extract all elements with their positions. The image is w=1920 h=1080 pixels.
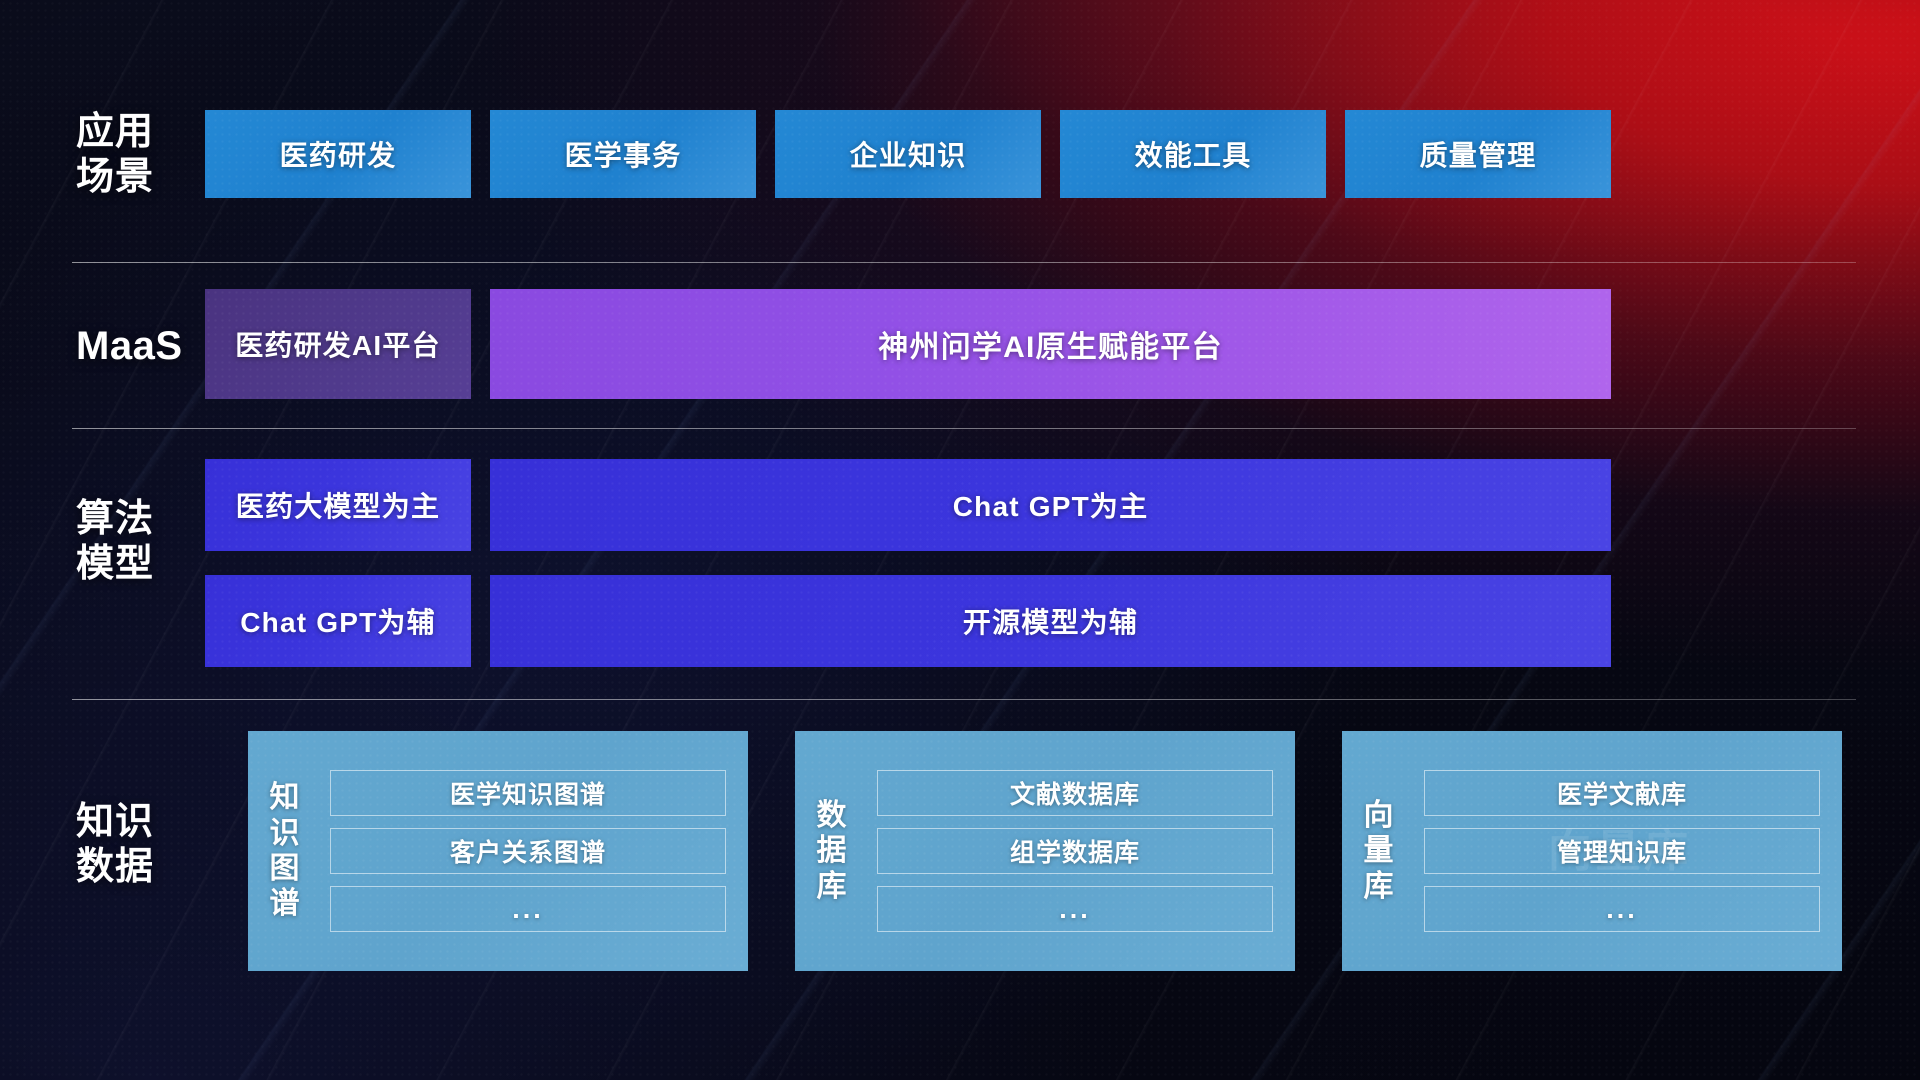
knowledge-item-customer-relation-graph[interactable]: 客户关系图谱 [330,828,726,874]
divider-after-maas [72,428,1856,429]
diagram-content: 应用 场景 医药研发 医学事务 企业知识 效能工具 质量管理 MaaS 医药研发… [0,0,1920,1080]
knowledge-card-item-list: 医学知识图谱 客户关系图谱 ... [322,756,748,946]
side-label-char-3: 图 [270,851,301,886]
side-label-char-2: 据 [817,833,848,868]
algo-box-chatgpt-primary[interactable]: Chat GPT为主 [490,459,1611,551]
maas-box-medicine-rd-ai-platform[interactable]: 医药研发AI平台 [205,289,471,399]
divider-after-application-scenarios [72,262,1856,263]
side-label-char-2: 量 [1364,833,1395,868]
maas-box-shenzhou-wenxue-platform[interactable]: 神州问学AI原生赋能平台 [490,289,1611,399]
knowledge-item-more[interactable]: ... [877,886,1273,932]
knowledge-item-literature-database[interactable]: 文献数据库 [877,770,1273,816]
knowledge-card-item-list: 医学文献库 管理知识库 ... [1416,756,1842,946]
algo-box-medicine-large-model-primary[interactable]: 医药大模型为主 [205,459,471,551]
knowledge-card-vector-store[interactable]: 向量库 向 量 库 医学文献库 管理知识库 ... [1342,731,1842,971]
side-label-char-4: 谱 [270,886,301,921]
knowledge-card-item-list: 文献数据库 组学数据库 ... [869,756,1295,946]
knowledge-item-more[interactable]: ... [1424,886,1820,932]
knowledge-card-database[interactable]: 数 据 库 文献数据库 组学数据库 ... [795,731,1295,971]
side-label-char-3: 库 [817,869,848,904]
app-box-efficiency-tools[interactable]: 效能工具 [1060,110,1326,198]
knowledge-card-side-label: 向 量 库 [1342,798,1416,904]
divider-after-algorithm-model [72,699,1856,700]
algo-box-chatgpt-secondary[interactable]: Chat GPT为辅 [205,575,471,667]
diagram-canvas: 应用 场景 医药研发 医学事务 企业知识 效能工具 质量管理 MaaS 医药研发… [0,0,1920,1080]
side-label-char-3: 库 [1364,869,1395,904]
knowledge-item-medical-knowledge-graph[interactable]: 医学知识图谱 [330,770,726,816]
knowledge-item-more[interactable]: ... [330,886,726,932]
knowledge-card-side-label: 数 据 库 [795,798,869,904]
knowledge-item-medical-literature-store[interactable]: 医学文献库 [1424,770,1820,816]
knowledge-card-knowledge-graph[interactable]: 知 识 图 谱 医学知识图谱 客户关系图谱 ... [248,731,748,971]
side-label-char-2: 识 [270,816,301,851]
row-label-knowledge-data: 知识 数据 [76,800,236,890]
side-label-char-1: 向 [1364,798,1395,833]
app-box-enterprise-knowledge[interactable]: 企业知识 [775,110,1041,198]
app-box-quality-management[interactable]: 质量管理 [1345,110,1611,198]
side-label-char-1: 知 [270,780,301,815]
knowledge-item-management-knowledge-store[interactable]: 管理知识库 [1424,828,1820,874]
knowledge-card-side-label: 知 识 图 谱 [248,780,322,922]
knowledge-item-omics-database[interactable]: 组学数据库 [877,828,1273,874]
algo-box-open-source-secondary[interactable]: 开源模型为辅 [490,575,1611,667]
side-label-char-1: 数 [817,798,848,833]
app-box-medical-affairs[interactable]: 医学事务 [490,110,756,198]
app-box-medicine-rd[interactable]: 医药研发 [205,110,471,198]
